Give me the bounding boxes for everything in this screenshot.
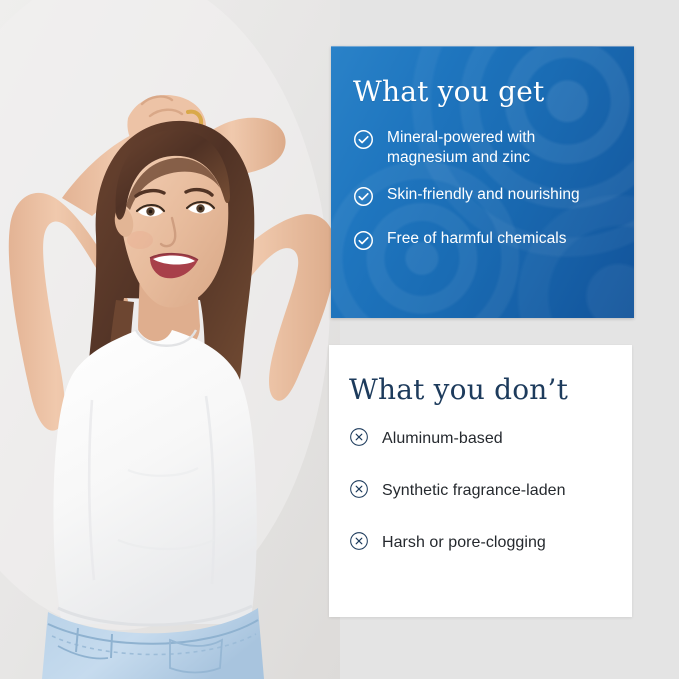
list-item-label: Harsh or pore-clogging	[382, 533, 546, 553]
check-circle-icon	[353, 129, 374, 155]
list-item: Mineral-powered with magnesium and zinc	[353, 128, 610, 168]
list-item-label: Synthetic fragrance-laden	[382, 481, 566, 501]
list-item-label: Skin-friendly and nourishing	[387, 185, 580, 205]
list-item: Synthetic fragrance-laden	[349, 478, 610, 504]
what-you-get-list: Mineral-powered with magnesium and zinc …	[353, 128, 610, 256]
check-circle-icon	[353, 230, 374, 256]
list-item-label: Aluminum-based	[382, 429, 503, 449]
list-item-label: Mineral-powered with magnesium and zinc	[387, 128, 610, 168]
list-item-label: Free of harmful chemicals	[387, 229, 567, 249]
x-circle-icon	[349, 427, 369, 452]
woman-illustration	[0, 0, 340, 679]
what-you-get-card: What you get Mineral-powered with magnes…	[331, 46, 634, 318]
what-you-dont-card: What you don’t Aluminum-based	[329, 345, 632, 617]
list-item: Free of harmful chemicals	[353, 229, 610, 256]
what-you-get-heading: What you get	[353, 77, 610, 106]
what-you-dont-heading: What you don’t	[349, 375, 610, 404]
x-circle-icon	[349, 479, 369, 504]
list-item: Harsh or pore-clogging	[349, 530, 610, 556]
product-infographic: What you get Mineral-powered with magnes…	[0, 0, 679, 679]
check-circle-icon	[353, 186, 374, 212]
list-item: Aluminum-based	[349, 426, 610, 452]
lifestyle-photo	[0, 0, 340, 679]
x-circle-icon	[349, 531, 369, 556]
what-you-dont-list: Aluminum-based Synthetic fragrance-laden	[349, 426, 610, 556]
list-item: Skin-friendly and nourishing	[353, 185, 610, 212]
